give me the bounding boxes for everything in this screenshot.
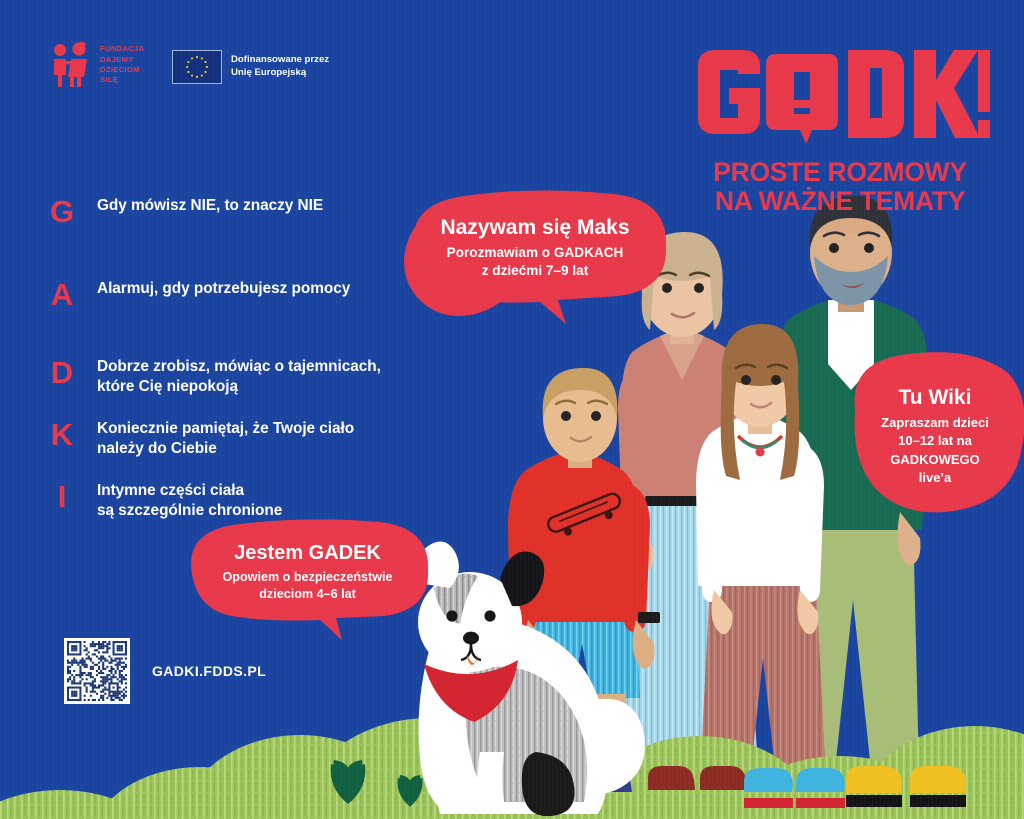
title-block: PROSTE ROZMOWY NA WAŻNE TEMATY xyxy=(690,44,990,216)
bubble-maks-title: Nazywam się Maks xyxy=(400,216,670,240)
acrostic-item-k: K Koniecznie pamiętaj, że Twoje ciało na… xyxy=(47,419,467,469)
eu-logo-text: Dofinansowane przez Unię Europejską xyxy=(231,54,329,79)
fdds-logo-text: FUNDACJA DAJEMY DZIECIOM SIŁĘ xyxy=(100,44,145,86)
acrostic-item-d: D Dobrze zrobisz, mówiąc o tajemnicach, … xyxy=(47,357,467,407)
gadki-poster: FUNDACJA DAJEMY DZIECIOM SIŁĘ Dofinansow… xyxy=(0,0,1024,819)
speech-bubble-gadek-text: Jestem GADEK Opowiem o bezpieczeństwie d… xyxy=(180,518,435,602)
speech-bubble-maks: Nazywam się Maks Porozmawiam o GADKACH z… xyxy=(400,190,670,325)
bubble-gadek-title: Jestem GADEK xyxy=(180,542,435,565)
bubble-wiki-title: Tu Wiki xyxy=(845,386,1024,410)
eu-funding-logo[interactable]: Dofinansowane przez Unię Europejską xyxy=(172,50,329,84)
fdds-logo[interactable]: FUNDACJA DAJEMY DZIECIOM SIŁĘ xyxy=(50,42,145,88)
fdds-line-2: DAJEMY xyxy=(100,55,145,65)
speech-bubble-wiki-text: Tu Wiki Zapraszam dzieci 10–12 lat na GA… xyxy=(845,350,1024,487)
fdds-children-icon xyxy=(50,42,92,88)
eu-flag-icon xyxy=(172,50,222,84)
speech-bubble-wiki: Tu Wiki Zapraszam dzieci 10–12 lat na GA… xyxy=(845,350,1024,520)
acrostic-text-d: Dobrze zrobisz, mówiąc o tajemnicach, kt… xyxy=(97,357,467,398)
acrostic-letter-g: G xyxy=(47,196,77,227)
acrostic-letter-i: I xyxy=(47,481,77,512)
acrostic-text-k: Koniecznie pamiętaj, że Twoje ciało nale… xyxy=(97,419,467,460)
acrostic-letter-k: K xyxy=(47,419,77,450)
eu-line-2: Unię Europejską xyxy=(231,67,329,80)
speech-bubble-maks-text: Nazywam się Maks Porozmawiam o GADKACH z… xyxy=(400,190,670,280)
website-url[interactable]: GADKI.FDDS.PL xyxy=(152,663,266,679)
speech-bubble-gadek: Jestem GADEK Opowiem o bezpieczeństwie d… xyxy=(180,518,435,640)
fdds-line-3: DZIECIOM xyxy=(100,65,145,75)
fdds-line-1: FUNDACJA xyxy=(100,44,145,54)
bubble-gadek-subtitle: Opowiem o bezpieczeństwie dzieciom 4–6 l… xyxy=(180,569,435,602)
qr-and-url[interactable]: GADKI.FDDS.PL xyxy=(64,638,266,704)
acrostic-letter-a: A xyxy=(47,279,77,310)
acrostic-letter-d: D xyxy=(47,357,77,388)
gadki-wordmark xyxy=(690,44,990,144)
bubble-maks-subtitle: Porozmawiam o GADKACH z dziećmi 7–9 lat xyxy=(400,244,670,280)
acrostic-text-i: Intymne części ciała są szczególnie chro… xyxy=(97,481,467,522)
bubble-wiki-subtitle: Zapraszam dzieci 10–12 lat na GADKOWEGO … xyxy=(845,414,1024,487)
fdds-line-4: SIŁĘ xyxy=(100,75,145,85)
title-subtitle: PROSTE ROZMOWY NA WAŻNE TEMATY xyxy=(690,158,990,216)
qr-code[interactable] xyxy=(64,638,130,704)
eu-line-1: Dofinansowane przez xyxy=(231,54,329,67)
